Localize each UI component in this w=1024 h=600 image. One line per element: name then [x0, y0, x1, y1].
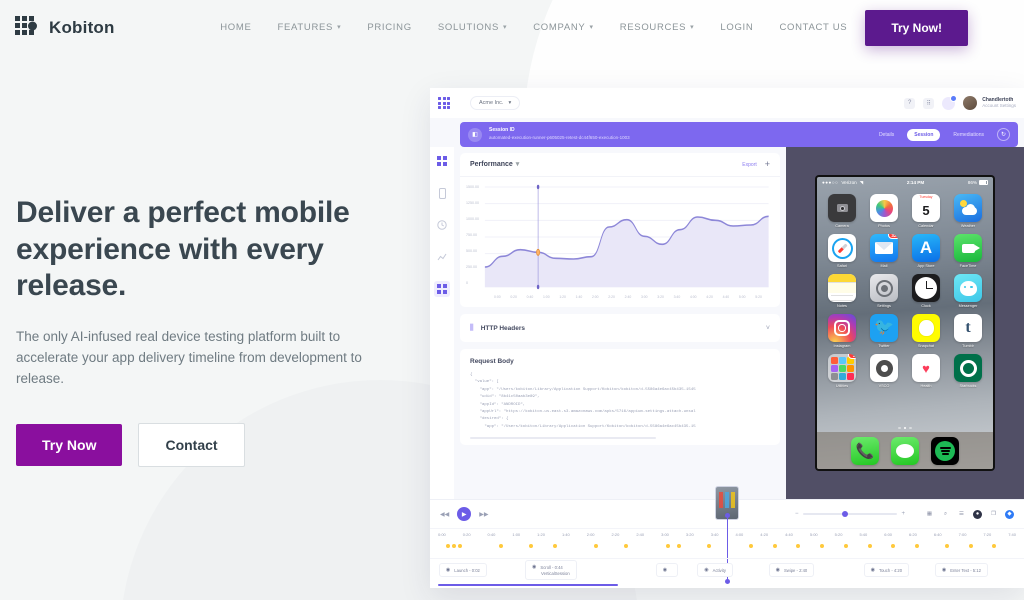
app-icon-calendar[interactable]: Tuesday5Calendar [908, 194, 944, 228]
sidebar-item-history[interactable] [434, 217, 450, 233]
org-selector[interactable]: Acme Inc. ▾ [470, 96, 520, 110]
timeline-event[interactable]: ◉Touch - 4:20 [864, 563, 909, 577]
app-icon-label: Safari [837, 264, 847, 268]
x-tick: 2:00 [592, 295, 599, 299]
code-line: "app": "/Users/kobiton/Library/Applicati… [470, 387, 770, 394]
org-name: Acme Inc. [479, 100, 503, 106]
timeline-marker[interactable] [706, 543, 712, 549]
app-icon-notes[interactable]: Notes [824, 274, 860, 308]
brand[interactable]: Kobiton [14, 15, 115, 41]
settings-icon [870, 274, 898, 302]
code-line: "value": [ [470, 379, 770, 386]
x-tick: 3:00 [641, 295, 648, 299]
clock-label: 2:14 PM [907, 180, 924, 185]
status-right: 86% [968, 180, 988, 185]
timeline-marker[interactable] [944, 543, 950, 549]
x-tick: 1:00 [543, 295, 550, 299]
phone-icon [439, 188, 446, 199]
timeline-event-label: Launch - 0:02 [454, 568, 480, 573]
timeline-marker[interactable] [528, 543, 534, 549]
timeline-event-label: Touch - 4:20 [879, 568, 902, 573]
timeline-tick: 1:40 [562, 532, 570, 537]
nav-label: COMPANY [533, 22, 585, 33]
info-icon[interactable]: ◆ [1005, 510, 1014, 519]
chart-y-axis: 1500.00 1250.00 1000.00 750.00 500.00 25… [466, 185, 479, 285]
x-tick: 2:20 [608, 295, 615, 299]
x-tick: 0:00 [494, 295, 501, 299]
app-icon-label: Settings [877, 304, 891, 308]
apps-icon[interactable]: ⠿ [923, 98, 934, 109]
timeline-event[interactable]: ◉Swipe - 2:40 [769, 563, 815, 577]
session-icon: ◧ [468, 128, 482, 142]
timeline-tools: ▦ ⌕ ☰ ● ❐ ◆ [925, 510, 1014, 519]
x-tick: 1:20 [559, 295, 566, 299]
nav-item-features[interactable]: FEATURES▾ [278, 22, 342, 33]
filter-icon: ◉ [776, 567, 780, 573]
timeline-tick: 4:00 [735, 532, 743, 537]
chevron-down-icon: ▾ [508, 100, 511, 106]
clock-icon [437, 220, 447, 230]
timeline-progress [430, 584, 1024, 588]
app-icon-label: Messenger [959, 304, 978, 308]
folder-icon: 3 [828, 354, 856, 382]
nav-item-login[interactable]: LOGIN [720, 22, 753, 33]
app-icon-label: Health [921, 384, 932, 388]
timeline-marker[interactable] [843, 543, 849, 549]
app-icon-instagram[interactable]: Instagram [824, 314, 860, 348]
health-icon: ♥ [912, 354, 940, 382]
performance-panel: Performance ▾ Export + 1500.00 1250.00 1… [460, 153, 780, 307]
timeline-event-label: Activity [713, 568, 726, 573]
timeline-event-label: Scroll - 0:44 [540, 565, 562, 570]
x-tick: 4:20 [706, 295, 713, 299]
app-icon-health[interactable]: ♥Health [908, 354, 944, 388]
timeline-marker[interactable] [593, 543, 599, 549]
vsco-icon [870, 354, 898, 382]
timeline-event-sublabel: VerticalSession [541, 571, 570, 576]
chart-x-axis: 0:00 0:20 0:40 1:00 1:20 1:40 2:00 2:20 … [468, 295, 772, 304]
messenger-icon [954, 274, 982, 302]
y-tick: 1000.00 [466, 217, 479, 221]
nav-item-solutions[interactable]: SOLUTIONS▾ [438, 22, 507, 33]
zoom-out-icon[interactable]: − [795, 511, 799, 517]
scroll-icon: ◉ [532, 564, 536, 570]
app-icon-snapchat[interactable]: Snapchat [908, 314, 944, 348]
timeline-marker[interactable] [552, 543, 558, 549]
nav-try-now-button[interactable]: Try Now! [865, 10, 968, 46]
nav-label: RESOURCES [620, 22, 686, 33]
chevron-down-icon[interactable]: ˅ [766, 325, 770, 332]
phone-icon: 📞 [851, 437, 879, 465]
timeline-tick: 2:00 [587, 532, 595, 537]
tab-details[interactable]: Details [872, 129, 901, 141]
hero-section: Deliver a perfect mobile experience with… [0, 55, 420, 467]
nav-item-pricing[interactable]: PRICING [367, 22, 412, 33]
x-tick: 3:20 [657, 295, 664, 299]
x-tick: 1:40 [576, 295, 583, 299]
panel-title[interactable]: Performance ▾ [470, 161, 519, 168]
chevron-down-icon: ▾ [503, 24, 507, 31]
y-tick: 750.00 [466, 233, 479, 237]
sidebar-item-reports[interactable] [434, 249, 450, 265]
nav-label: FEATURES [278, 22, 334, 33]
page-indicator [817, 423, 993, 433]
play-icon[interactable]: ▶ [457, 507, 471, 521]
sidebar-item-dashboard[interactable] [434, 153, 450, 169]
app-icon-app-store[interactable]: AApp Store [908, 234, 944, 268]
nav-item-contact-us[interactable]: CONTACT US [779, 22, 847, 33]
app-icon-label: Camera [835, 224, 849, 228]
timeline-marker[interactable] [991, 543, 997, 549]
hero-cta-group: Try Now Contact [16, 423, 420, 467]
grid-icon [437, 284, 447, 294]
app-icon-vsco[interactable]: VSCO [866, 354, 902, 388]
timeline-tick: 5:00 [810, 532, 818, 537]
timeline-events: ◉Launch - 0:02◉Scroll - 0:44VerticalSess… [430, 558, 1024, 584]
starbucks-icon [954, 354, 982, 382]
nav-item-home[interactable]: HOME [220, 22, 251, 33]
notification-dot [950, 95, 957, 102]
camera-icon [828, 194, 856, 222]
timeline-tick: 6:40 [934, 532, 942, 537]
app-store-icon: A [912, 234, 940, 262]
timeline-tick: 4:40 [785, 532, 793, 537]
nav-label: LOGIN [720, 22, 753, 33]
step-forward-icon[interactable]: ▶▶ [479, 511, 488, 518]
clock-icon [912, 274, 940, 302]
timeline-tick: 7:20 [983, 532, 991, 537]
performance-header: Performance ▾ Export + [460, 153, 780, 177]
tumblr-icon: t [954, 314, 982, 342]
bell-icon[interactable] [942, 97, 955, 110]
app-icon-utilities[interactable]: 3Utilities [824, 354, 860, 388]
tab-session[interactable]: Session [907, 129, 940, 141]
app-icon-label: Snapchat [918, 344, 934, 348]
headers-icon: ⫼ [470, 323, 474, 333]
timeline-marker[interactable] [914, 543, 920, 549]
app-icon-label: Photos [878, 224, 890, 228]
nav-label: PRICING [367, 22, 412, 33]
http-headers-panel[interactable]: ⫼ HTTP Headers ˅ [460, 314, 780, 342]
phone-frame: ●●●○○ Verizon ◥ 2:14 PM 86% CameraPhotos… [815, 175, 995, 471]
app-icon-messages[interactable]: Messages [891, 437, 919, 465]
session-header: ◧ Session ID automated-execution-runner-… [460, 122, 1018, 147]
code-line: "appUrl": "https://kobiton-us-east-s3.am… [470, 409, 770, 416]
messages-icon [891, 437, 919, 465]
slider-knob[interactable] [842, 511, 848, 517]
app-topbar-actions: ? ⠿ Chandlertoth Account Settings [904, 96, 1016, 110]
app-icon-camera[interactable]: Camera [824, 194, 860, 228]
layout-icon[interactable]: ▦ [925, 510, 934, 519]
zoom-in-icon[interactable]: + [901, 511, 905, 517]
app-icon-label: Mail [881, 264, 888, 268]
hero-subtext: The only AI-infused real device testing … [16, 327, 388, 390]
copy-icon[interactable]: ❐ [989, 510, 998, 519]
grid-icon [437, 156, 447, 166]
user-name: Chandlertoth [982, 97, 1016, 104]
app-icon-settings[interactable]: Settings [866, 274, 902, 308]
timeline-tick: 6:00 [884, 532, 892, 537]
timeline-marker[interactable] [623, 543, 629, 549]
mail-icon: 323 [870, 234, 898, 262]
app-icon-mail[interactable]: 323Mail [866, 234, 902, 268]
hero-try-now-button[interactable]: Try Now [16, 424, 122, 466]
notes-icon [828, 274, 856, 302]
app-icon-clock[interactable]: Clock [908, 274, 944, 308]
http-headers-label: HTTP Headers [481, 325, 525, 332]
chart-canvas [468, 183, 772, 295]
nav-label: HOME [220, 22, 251, 33]
wifi-icon: ◥ [860, 180, 864, 186]
performance-title-label: Performance [470, 161, 513, 168]
carrier-label: Verizon [841, 180, 856, 185]
timeline-tick: 3:40 [711, 532, 719, 537]
avatar [963, 96, 977, 110]
hero-contact-button[interactable]: Contact [138, 423, 244, 467]
hero-headline: Deliver a perfect mobile experience with… [16, 195, 420, 305]
ios-status-bar: ●●●○○ Verizon ◥ 2:14 PM 86% [817, 177, 993, 188]
timeline-tick: 2:20 [612, 532, 620, 537]
x-tick: 3:40 [674, 295, 681, 299]
chart-icon [437, 252, 447, 262]
app-body: Performance ▾ Export + 1500.00 1250.00 1… [430, 147, 1024, 499]
session-id: automated-execution-runner-p605025-retes… [489, 135, 630, 142]
nav-label: CONTACT US [779, 22, 847, 33]
top-navigation: Kobiton HOME FEATURES▾ PRICING SOLUTIONS… [0, 0, 1024, 55]
tap-icon: ◉ [663, 567, 667, 573]
kobiton-grid-logo-icon [14, 15, 40, 41]
brand-name: Kobiton [49, 18, 115, 38]
app-sidebar-rail [430, 147, 454, 499]
x-tick: 2:40 [625, 295, 632, 299]
code-line: "udid": "8b41c50aab3e89", [470, 394, 770, 401]
app-icon-photos[interactable]: Photos [866, 194, 902, 228]
nav-item-company[interactable]: COMPANY▾ [533, 22, 593, 33]
timeline-marker[interactable] [748, 543, 754, 549]
timeline-ruler[interactable]: 0:000:200:401:001:201:402:002:202:403:00… [430, 528, 1024, 558]
timeline-marker[interactable] [676, 543, 682, 549]
timeline-marker[interactable] [867, 543, 873, 549]
chevron-down-icon: ▾ [337, 24, 341, 31]
timeline-event[interactable]: ◉Activity [697, 563, 733, 577]
request-body-title: Request Body [470, 358, 770, 365]
app-icon-label: VSCO [879, 384, 890, 388]
app-icon-twitter[interactable]: 🐦Twitter [866, 314, 902, 348]
app-icon-label: Instagram [834, 344, 851, 348]
timeline-tick: 0:40 [488, 532, 496, 537]
landing-page: Kobiton HOME FEATURES▾ PRICING SOLUTIONS… [0, 0, 1024, 600]
session-tabs: Details Session Remediations ↻ [872, 128, 1010, 141]
user-menu[interactable]: Chandlertoth Account Settings [963, 96, 1016, 110]
record-icon: ◉ [704, 567, 708, 573]
app-icon-phone[interactable]: 📞Phone [851, 437, 879, 465]
app-icon-messenger[interactable]: Messenger [950, 274, 986, 308]
ios-dock: 📞PhoneMessagesSpotify [817, 432, 993, 469]
timeline-tick: 7:00 [959, 532, 967, 537]
x-tick: 4:40 [723, 295, 730, 299]
timeline-tick: 2:40 [636, 532, 644, 537]
app-icon-starbucks[interactable]: Starbucks [950, 354, 986, 388]
zoom-slider[interactable]: − + [795, 511, 905, 517]
timeline-tick: 5:40 [859, 532, 867, 537]
app-icon-label: Utilities [836, 384, 848, 388]
timeline-tick: 1:20 [537, 532, 545, 537]
timeline-marker[interactable] [819, 543, 825, 549]
facetime-icon [954, 234, 982, 262]
x-tick: 0:40 [527, 295, 534, 299]
app-icon-label: App Store [918, 264, 935, 268]
timeline-marker[interactable] [457, 543, 463, 549]
product-screenshot: Acme Inc. ▾ ? ⠿ Chandlertoth Account Set… [430, 88, 1024, 588]
session-timeline: ◀◀ ▶ ▶▶ − + ▦ ⌕ ☰ ● ❐ ◆ [430, 499, 1024, 588]
code-line: { [470, 372, 770, 379]
timeline-event-label: Enter Text - 5:12 [950, 568, 981, 573]
code-line: "desired": { [470, 416, 770, 423]
timeline-marker[interactable] [498, 543, 504, 549]
code-line: "appId": "ANDROID", [470, 402, 770, 409]
app-grid-icon[interactable] [438, 97, 450, 109]
y-tick: 0 [466, 281, 479, 285]
x-tick: 5:20 [755, 295, 762, 299]
app-icon-label: Notes [837, 304, 847, 308]
photos-icon [870, 194, 898, 222]
sidebar-item-devices[interactable] [434, 185, 450, 201]
user-account-settings-link: Account Settings [982, 103, 1016, 109]
session-title: Session ID [489, 127, 630, 135]
step-back-icon[interactable]: ◀◀ [440, 511, 449, 518]
timeline-tick: 6:20 [909, 532, 917, 537]
timeline-marker[interactable] [795, 543, 801, 549]
y-tick: 250.00 [466, 265, 479, 269]
timeline-tick: 1:00 [512, 532, 520, 537]
timeline-event[interactable]: ◉Launch - 0:02 [439, 563, 487, 577]
app-icon-spotify[interactable]: Spotify [931, 437, 959, 465]
battery-label: 86% [968, 180, 977, 185]
app-icon-label: Twitter [878, 344, 889, 348]
app-icon-label: Clock [921, 304, 931, 308]
plus-icon[interactable]: + [765, 160, 770, 169]
phone-screen[interactable]: ●●●○○ Verizon ◥ 2:14 PM 86% CameraPhotos… [817, 177, 993, 469]
device-viewer: ●●●○○ Verizon ◥ 2:14 PM 86% CameraPhotos… [786, 147, 1024, 499]
timeline-event[interactable]: ◉Enter Text - 5:12 [935, 563, 988, 577]
y-tick: 1500.00 [466, 185, 479, 189]
timeline-tick: 7:40 [1008, 532, 1016, 537]
app-icon-weather[interactable]: Weather [950, 194, 986, 228]
app-icon-safari[interactable]: Safari [824, 234, 860, 268]
tab-remediations[interactable]: Remediations [946, 129, 991, 141]
app-icon-label: Weather [961, 224, 975, 228]
snapchat-icon [912, 314, 940, 342]
twitter-icon: 🐦 [870, 314, 898, 342]
spotify-icon [931, 437, 959, 465]
badge-count: 323 [888, 234, 898, 239]
timeline-marker[interactable] [772, 543, 778, 549]
y-tick: 500.00 [466, 249, 479, 253]
timeline-tick: 4:20 [760, 532, 768, 537]
app-icon-label: Tumblr [962, 344, 974, 348]
nav-links: HOME FEATURES▾ PRICING SOLUTIONS▾ COMPAN… [220, 22, 847, 33]
chevron-down-icon: ▾ [690, 24, 694, 31]
chevron-down-icon: ▾ [516, 161, 520, 168]
performance-chart: 1500.00 1250.00 1000.00 750.00 500.00 25… [460, 177, 780, 307]
app-icon-tumblr[interactable]: tTumblr [950, 314, 986, 348]
weather-icon [954, 194, 982, 222]
timeline-marker[interactable] [665, 543, 671, 549]
badge-count: 3 [848, 354, 856, 359]
request-body-panel: Request Body { "value": [ "app": "/Users… [460, 349, 780, 445]
timeline-event-label: Swipe - 2:40 [784, 568, 807, 573]
app-main-content: Performance ▾ Export + 1500.00 1250.00 1… [454, 147, 786, 499]
x-tick: 0:20 [510, 295, 517, 299]
timeline-event[interactable]: ◉Scroll - 0:44VerticalSession [525, 560, 577, 580]
timeline-marker[interactable] [890, 543, 896, 549]
search-icon[interactable]: ⌕ [941, 510, 950, 519]
timeline-tick: 3:20 [686, 532, 694, 537]
code-line: "app": "/Users/kobiton/Library/Applicati… [470, 424, 770, 431]
record-icon[interactable]: ● [973, 510, 982, 519]
battery-icon [979, 180, 988, 185]
timeline-tick: 0:00 [438, 532, 446, 537]
launch-icon: ◉ [446, 567, 450, 573]
export-link[interactable]: Export [742, 162, 756, 168]
x-tick: 5:00 [739, 295, 746, 299]
x-tick: 4:00 [690, 295, 697, 299]
request-body-code[interactable]: { "value": [ "app": "/Users/kobiton/Libr… [470, 372, 770, 431]
app-icon-label: FaceTime [960, 264, 977, 268]
app-topbar: Acme Inc. ▾ ? ⠿ Chandlertoth Account Set… [430, 88, 1024, 118]
instagram-icon [828, 314, 856, 342]
signal-icon: ●●●○○ [822, 180, 838, 185]
timeline-tick: 3:00 [661, 532, 669, 537]
timeline-event[interactable]: ◉ [656, 563, 678, 577]
timeline-tick: 0:20 [463, 532, 471, 537]
calendar-icon: Tuesday5 [912, 194, 940, 222]
nav-label: SOLUTIONS [438, 22, 499, 33]
ios-app-grid: CameraPhotosTuesday5CalendarWeatherSafar… [817, 188, 993, 423]
app-icon-facetime[interactable]: FaceTime [950, 234, 986, 268]
timeline-marker[interactable] [968, 543, 974, 549]
app-icon-label: Calendar [918, 224, 933, 228]
timeline-tick: 5:20 [835, 532, 843, 537]
touch-icon: ◉ [871, 567, 875, 573]
performance-actions: Export + [742, 160, 770, 169]
chevron-down-icon: ▾ [589, 24, 593, 31]
entertext-icon: ◉ [942, 567, 946, 573]
safari-icon [828, 234, 856, 262]
refresh-icon[interactable]: ↻ [997, 128, 1010, 141]
nav-item-resources[interactable]: RESOURCES▾ [620, 22, 695, 33]
horizontal-scrollbar[interactable] [470, 437, 656, 439]
sidebar-item-sessions[interactable] [434, 281, 450, 297]
list-icon[interactable]: ☰ [957, 510, 966, 519]
y-tick: 1250.00 [466, 201, 479, 205]
help-icon[interactable]: ? [904, 98, 915, 109]
app-icon-label: Starbucks [960, 384, 977, 388]
